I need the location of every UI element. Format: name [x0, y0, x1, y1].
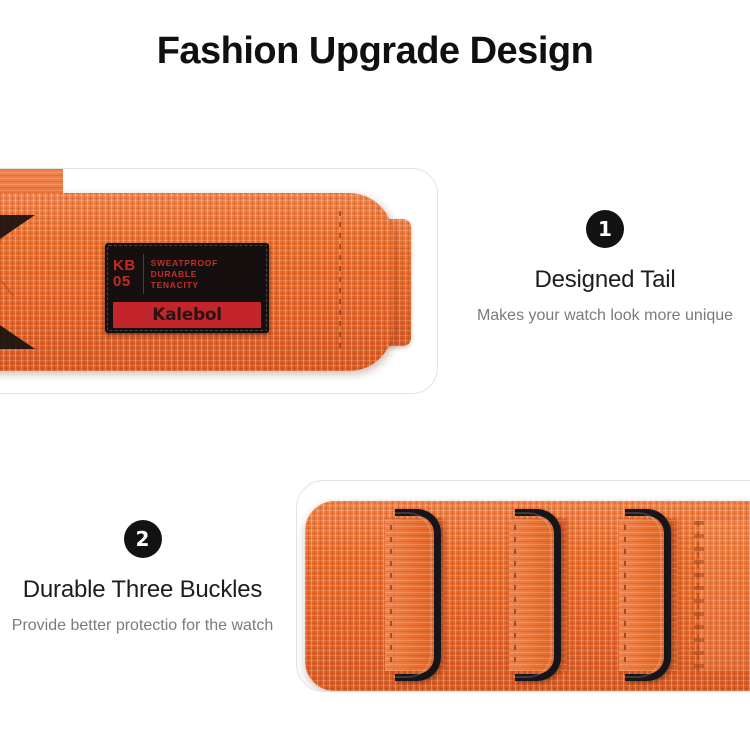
label-claim-2: TENACITY [151, 280, 218, 291]
tail-shadow-wedge-bottom [0, 319, 35, 349]
label-claims: SWEATPROOF DURABLE TENACITY [151, 258, 218, 291]
label-claim-1: DURABLE [151, 269, 218, 280]
product-photo-card-tail: KB 05 SWEATPROOF DURABLE TENACITY Kalebo… [0, 168, 438, 394]
label-top-row: KB 05 SWEATPROOF DURABLE TENACITY [113, 250, 261, 298]
page-title: Fashion Upgrade Design [0, 30, 750, 73]
strap-stitch-line [339, 211, 341, 351]
brand-label: KB 05 SWEATPROOF DURABLE TENACITY Kalebo… [105, 243, 269, 333]
buckle-ring-3 [625, 509, 671, 681]
product-photo-card-buckles [296, 480, 750, 692]
feature-number-badge-2: 2 [124, 520, 162, 558]
feature-callout-1: 1 Designed Tail Makes your watch look mo… [460, 210, 750, 327]
label-brand-band: Kalebol [113, 302, 261, 328]
label-claim-0: SWEATPROOF [151, 258, 218, 269]
feature-number-badge-1: 1 [586, 210, 624, 248]
feature-callout-2: 2 Durable Three Buckles Provide better p… [0, 520, 285, 637]
buckle-ring-2 [515, 509, 561, 681]
feature-heading-1: Designed Tail [460, 266, 750, 294]
label-code-line-1: KB [113, 258, 136, 274]
feature-heading-2: Durable Three Buckles [0, 576, 285, 604]
feature-description-1: Makes your watch look more unique [460, 304, 750, 327]
feature-description-2: Provide better protectio for the watch [0, 614, 285, 637]
label-model-code: KB 05 [113, 258, 143, 290]
label-code-line-2: 05 [113, 274, 136, 290]
strap-stitched-panel [697, 521, 750, 671]
infographic-page: Fashion Upgrade Design KB 05 SWEATPROOF [0, 0, 750, 750]
tail-shadow-wedge-top [0, 215, 35, 245]
brand-name: Kalebol [152, 305, 222, 325]
buckle-ring-1 [395, 509, 441, 681]
label-divider [143, 254, 144, 294]
